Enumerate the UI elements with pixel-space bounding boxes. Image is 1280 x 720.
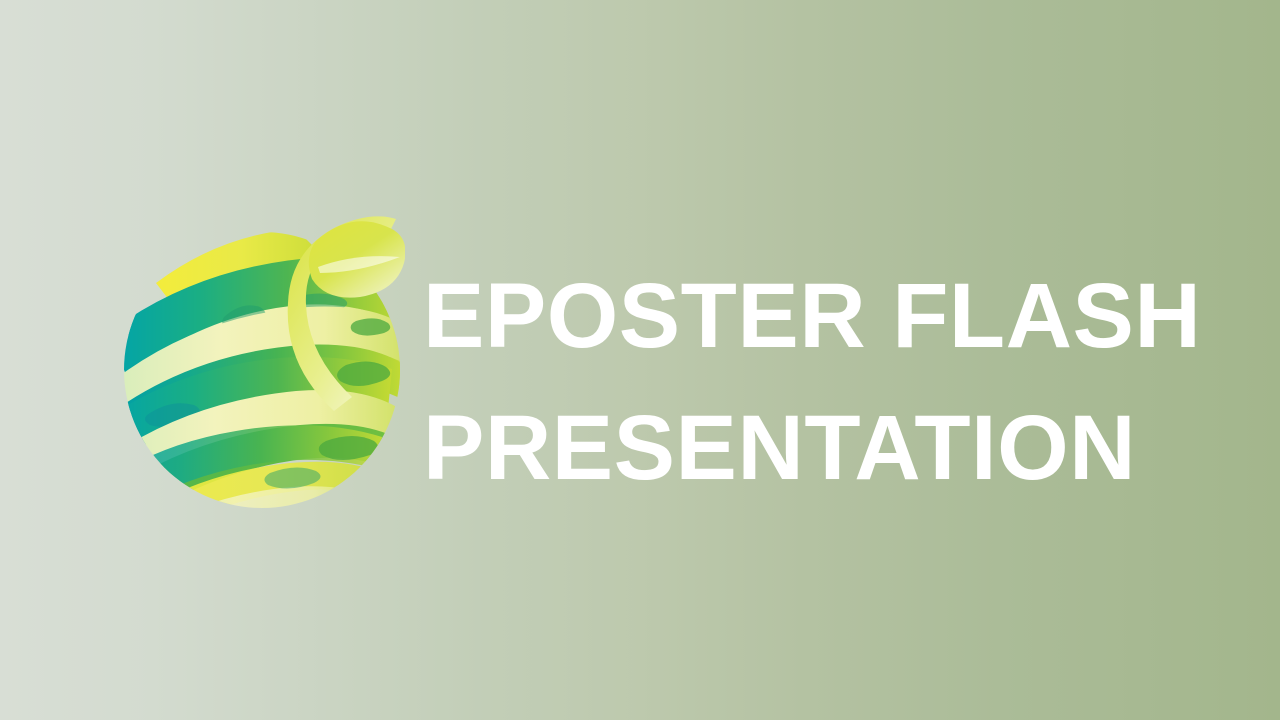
title-line-1: EPOSTER FLASH: [423, 250, 1223, 382]
globe-leaf-logo: [120, 205, 405, 515]
presentation-slide: EPOSTER FLASH PRESENTATION: [0, 0, 1280, 720]
page-title: EPOSTER FLASH PRESENTATION: [423, 250, 1223, 514]
title-line-2: PRESENTATION: [423, 382, 1223, 514]
